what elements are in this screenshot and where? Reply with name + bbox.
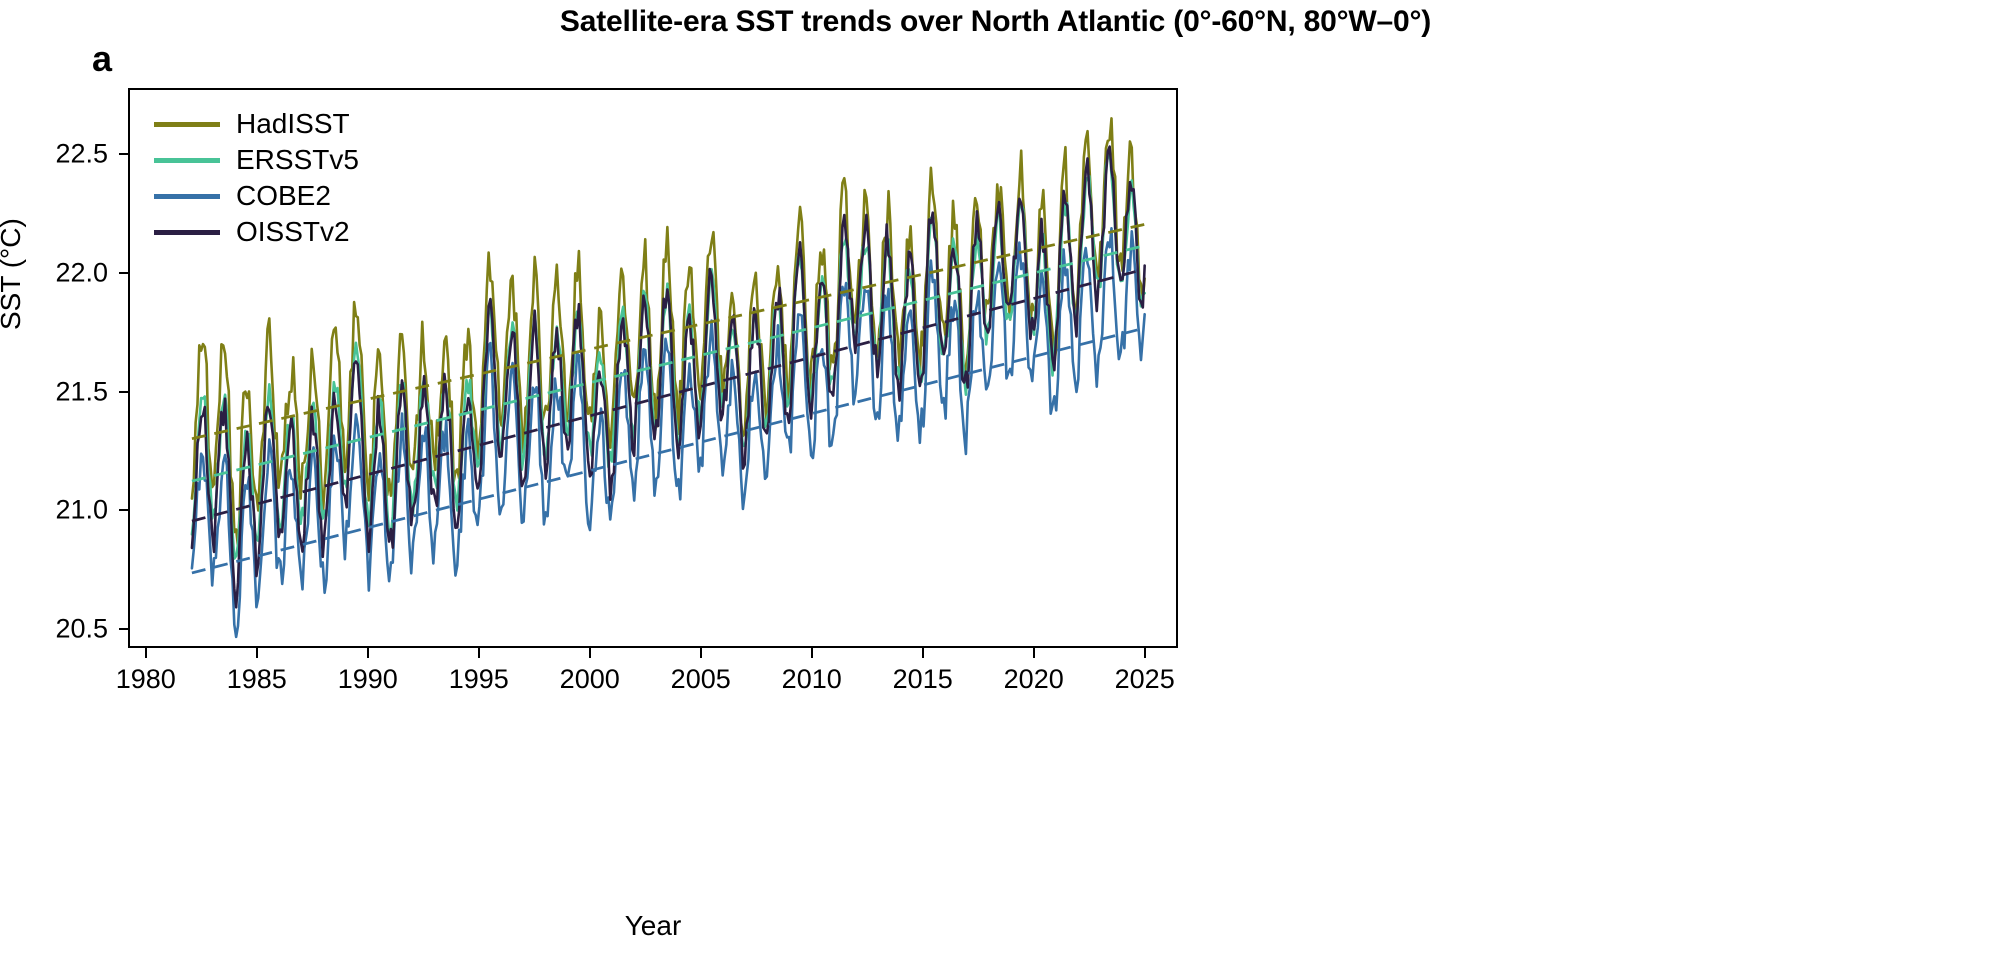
x-tick-label: 1990 <box>308 664 428 695</box>
panel-a-letter: a <box>92 38 112 80</box>
y-tick-mark <box>119 628 128 630</box>
legend-item-ersstv5[interactable]: ERSSTv5 <box>154 142 394 178</box>
x-tick-mark <box>811 648 813 658</box>
x-tick-mark <box>478 648 480 658</box>
legend-item-hadisst[interactable]: HadISST <box>154 106 394 142</box>
x-tick-mark <box>1033 648 1035 658</box>
x-tick-mark <box>700 648 702 658</box>
y-tick-mark <box>119 509 128 511</box>
y-tick-label: 21.0 <box>0 495 108 526</box>
x-tick-mark <box>145 648 147 658</box>
series-legend: HadISSTERSSTv5COBE2OISSTv2 <box>148 96 398 258</box>
legend-swatch-ersstv5 <box>154 158 220 163</box>
legend-label: COBE2 <box>236 182 331 210</box>
y-tick-mark <box>119 153 128 155</box>
x-tick-label: 2010 <box>752 664 872 695</box>
panel-a: a 20.521.021.522.022.5198019851990199520… <box>0 0 1310 970</box>
x-tick-label: 2020 <box>974 664 1094 695</box>
panel-a-ylabel: SST (°C) <box>0 218 27 330</box>
x-tick-mark <box>1144 648 1146 658</box>
legend-item-oisstv2[interactable]: OISSTv2 <box>154 214 394 250</box>
x-tick-label: 2025 <box>1085 664 1205 695</box>
x-tick-mark <box>256 648 258 658</box>
x-tick-mark <box>589 648 591 658</box>
x-tick-label: 1995 <box>419 664 539 695</box>
legend-label: HadISST <box>236 110 350 138</box>
legend-swatch-cobe2 <box>154 194 220 199</box>
y-tick-mark <box>119 272 128 274</box>
legend-item-cobe2[interactable]: COBE2 <box>154 178 394 214</box>
x-tick-mark <box>367 648 369 658</box>
y-tick-mark <box>119 391 128 393</box>
x-tick-mark <box>922 648 924 658</box>
x-tick-label: 2005 <box>641 664 761 695</box>
y-tick-label: 22.5 <box>0 139 108 170</box>
x-tick-label: 2000 <box>530 664 650 695</box>
y-tick-label: 21.5 <box>0 376 108 407</box>
y-tick-label: 20.5 <box>0 614 108 645</box>
x-tick-label: 2015 <box>863 664 983 695</box>
legend-label: OISSTv2 <box>236 218 350 246</box>
x-tick-label: 1985 <box>197 664 317 695</box>
x-tick-label: 1980 <box>86 664 206 695</box>
legend-swatch-hadisst <box>154 122 220 127</box>
panel-a-xlabel: Year <box>128 910 1178 942</box>
legend-label: ERSSTv5 <box>236 146 359 174</box>
panel-b: b HadISST0.210ERSSTv50.232COBE20.237OISS… <box>1310 0 1991 970</box>
legend-swatch-oisstv2 <box>154 230 220 235</box>
